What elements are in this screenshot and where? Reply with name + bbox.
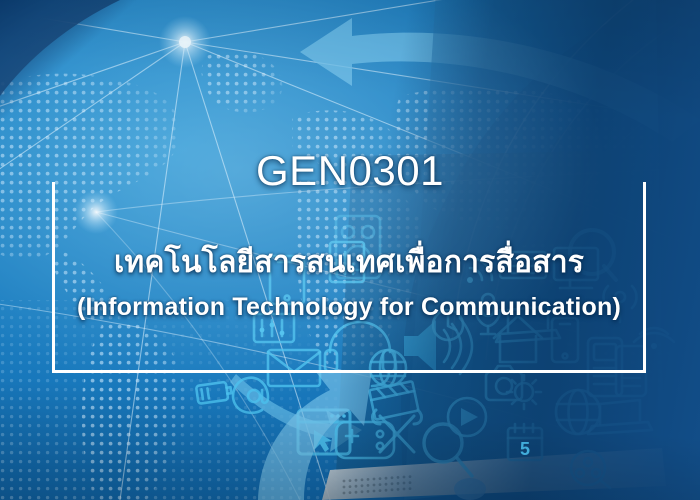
course-title-block: เทคโนโลยีสารสนเทศเพื่อการสื่อสาร (Inform… [52,178,646,373]
course-banner: GEN0301 เทคโนโลยีสารสนเทศเพื่อการสื่อสาร… [0,0,700,500]
course-code: GEN0301 [0,150,700,192]
course-title-english: (Information Technology for Communicatio… [77,293,621,322]
course-title-thai: เทคโนโลยีสารสนเทศเพื่อการสื่อสาร [114,245,584,280]
calendar-day-number: 5 [508,438,542,460]
